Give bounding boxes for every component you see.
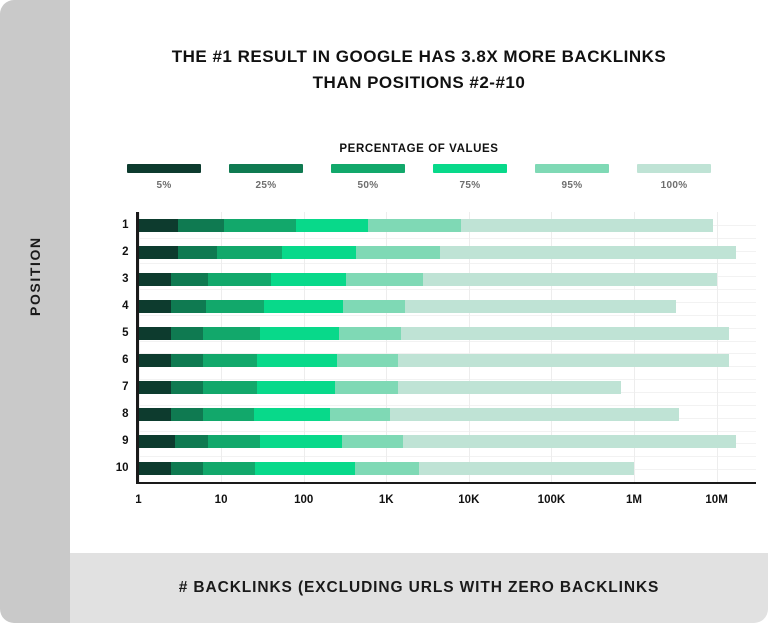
grid-rowline: [139, 263, 757, 264]
bar-segment: [335, 381, 398, 394]
bar-segment: [224, 219, 295, 232]
bar-segment: [257, 354, 337, 367]
x-axis-tick-label: 1M: [626, 494, 642, 506]
bar-row: 10: [139, 462, 634, 475]
x-axis-tick-label: 10: [215, 494, 228, 506]
bar-segment: [401, 327, 729, 340]
legend-item: 95%: [535, 164, 609, 191]
bar-segment: [355, 462, 419, 475]
bar-row: 6: [139, 354, 729, 367]
bar-row: 8: [139, 408, 679, 421]
bar-segment: [175, 435, 208, 448]
bar-segment: [208, 435, 260, 448]
y-axis-tick-label: 2: [89, 246, 129, 259]
bar-row: 7: [139, 381, 622, 394]
legend-item: 75%: [433, 164, 507, 191]
page-title: THE #1 RESULT IN GOOGLE HAS 3.8X MORE BA…: [70, 44, 768, 96]
bar-segment: [139, 327, 172, 340]
bar-segment: [257, 381, 335, 394]
legend-label: 5%: [127, 180, 201, 191]
bar-row: 3: [139, 273, 717, 286]
bar-row: 1: [139, 219, 713, 232]
grid-rowline: [139, 379, 757, 380]
y-axis-tick-label: 10: [89, 462, 129, 475]
bar-segment: [260, 435, 341, 448]
grid-rowline: [139, 456, 757, 457]
bar-segment: [206, 300, 264, 313]
x-axis-title: # BACKLINKS (EXCLUDING URLS WITH ZERO BA…: [179, 579, 660, 597]
x-axis-tick-label: 1K: [379, 494, 394, 506]
bar-segment: [139, 462, 172, 475]
bar-segment: [390, 408, 679, 421]
bar-segment: [139, 408, 172, 421]
bar-segment: [139, 246, 178, 259]
y-axis-tick-label: 8: [89, 408, 129, 421]
bar-segment: [356, 246, 440, 259]
grid-rowline: [139, 341, 757, 342]
bar-row: 2: [139, 246, 736, 259]
bar-segment: [178, 246, 217, 259]
plot-inner: 12345678910: [139, 212, 757, 482]
bar-row: 4: [139, 300, 676, 313]
y-axis-tick-label: 7: [89, 381, 129, 394]
bar-segment: [171, 273, 208, 286]
bar-row: 5: [139, 327, 729, 340]
legend-swatch: [127, 164, 201, 173]
bar-segment: [398, 381, 621, 394]
bar-segment: [203, 381, 257, 394]
legend-swatch: [331, 164, 405, 173]
bar-segment: [139, 219, 178, 232]
grid-rowline: [139, 405, 757, 406]
legend-item: 100%: [637, 164, 711, 191]
y-axis-tick-label: 4: [89, 300, 129, 313]
bar-segment: [139, 435, 176, 448]
infographic-root: POSITION THE #1 RESULT IN GOOGLE HAS 3.8…: [0, 0, 768, 623]
bar-segment: [423, 273, 716, 286]
bar-segment: [178, 219, 225, 232]
legend-swatch: [433, 164, 507, 173]
bar-segment: [343, 300, 405, 313]
y-axis-tick-label: 6: [89, 354, 129, 367]
bar-segment: [203, 462, 256, 475]
legend-items: 5%25%50%75%95%100%: [70, 164, 768, 191]
legend-label: 25%: [229, 180, 303, 191]
bar-segment: [346, 273, 423, 286]
legend-swatch: [637, 164, 711, 173]
grid-rowline: [139, 315, 757, 316]
legend-item: 25%: [229, 164, 303, 191]
x-axis-tick-label: 100: [294, 494, 313, 506]
bar-segment: [254, 408, 330, 421]
y-axis-tick-label: 5: [89, 327, 129, 340]
bar-segment: [203, 408, 254, 421]
grid-rowline: [139, 238, 757, 239]
bar-segment: [171, 408, 202, 421]
bar-row: 9: [139, 435, 736, 448]
bar-segment: [171, 354, 202, 367]
bar-segment: [296, 219, 368, 232]
grid-rowline: [139, 431, 757, 432]
bar-segment: [203, 354, 257, 367]
bar-segment: [339, 327, 401, 340]
legend-title: PERCENTAGE OF VALUES: [70, 143, 768, 155]
bar-segment: [368, 219, 461, 232]
x-axis-tick-label: 10K: [458, 494, 479, 506]
bar-segment: [139, 300, 172, 313]
bar-segment: [208, 273, 271, 286]
y-axis-tick-label: 1: [89, 219, 129, 232]
bar-segment: [330, 408, 389, 421]
legend-swatch: [535, 164, 609, 173]
y-axis-tick-label: 9: [89, 435, 129, 448]
x-axis-tick-label: 100K: [538, 494, 566, 506]
page-title-line-2: THAN POSITIONS #2-#10: [70, 70, 768, 96]
bar-segment: [337, 354, 399, 367]
legend-item: 5%: [127, 164, 201, 191]
x-axis-tick-label: 1: [135, 494, 141, 506]
bar-segment: [419, 462, 634, 475]
bar-segment: [255, 462, 355, 475]
y-axis-tick-label: 3: [89, 273, 129, 286]
page-title-line-1: THE #1 RESULT IN GOOGLE HAS 3.8X MORE BA…: [70, 44, 768, 70]
legend: PERCENTAGE OF VALUES 5%25%50%75%95%100%: [70, 143, 768, 191]
bar-segment: [403, 435, 736, 448]
bar-segment: [171, 462, 202, 475]
bar-segment: [398, 354, 728, 367]
bar-segment: [271, 273, 347, 286]
bar-segment: [203, 327, 261, 340]
bar-segment: [139, 273, 172, 286]
plot-area: 12345678910 1101001K10K100K1M10M: [136, 212, 756, 484]
bar-segment: [260, 327, 339, 340]
legend-swatch: [229, 164, 303, 173]
chart-canvas: THE #1 RESULT IN GOOGLE HAS 3.8X MORE BA…: [70, 0, 768, 553]
legend-label: 100%: [637, 180, 711, 191]
bar-segment: [139, 354, 172, 367]
bar-segment: [171, 300, 205, 313]
bar-segment: [440, 246, 735, 259]
y-axis-title: POSITION: [0, 0, 70, 553]
legend-label: 50%: [331, 180, 405, 191]
legend-label: 95%: [535, 180, 609, 191]
grid-rowline: [139, 289, 757, 290]
legend-item: 50%: [331, 164, 405, 191]
sidebar-position-axis: POSITION: [0, 0, 70, 623]
bar-segment: [461, 219, 713, 232]
bar-segment: [342, 435, 403, 448]
bar-segment: [217, 246, 282, 259]
bar-segment: [282, 246, 356, 259]
legend-label: 75%: [433, 180, 507, 191]
bar-segment: [264, 300, 343, 313]
bar-segment: [405, 300, 675, 313]
bar-segment: [171, 327, 202, 340]
footer-axis-band: # BACKLINKS (EXCLUDING URLS WITH ZERO BA…: [70, 553, 768, 623]
x-axis-tick-label: 10M: [705, 494, 727, 506]
bar-segment: [139, 381, 172, 394]
bar-segment: [171, 381, 202, 394]
